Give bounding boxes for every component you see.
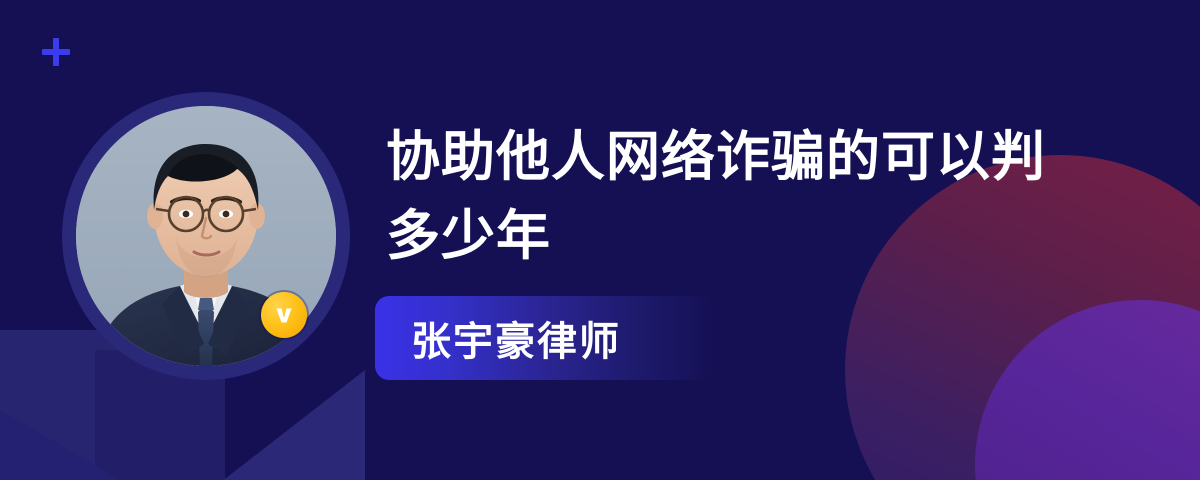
wedge-decoration-corner bbox=[0, 410, 120, 480]
verified-badge bbox=[261, 292, 307, 338]
purple-arc-decoration bbox=[975, 300, 1200, 480]
plus-icon bbox=[42, 38, 70, 66]
lawyer-name-label: 张宇豪律师 bbox=[411, 309, 621, 367]
lawyer-name-badge[interactable]: 张宇豪律师 bbox=[375, 296, 715, 380]
avatar bbox=[62, 92, 350, 380]
page-title: 协助他人网络诈骗的可以判多少年 bbox=[386, 118, 1076, 276]
lawyer-question-banner: 协助他人网络诈骗的可以判多少年 张宇豪律师 bbox=[0, 0, 1200, 480]
wedge-decoration-right bbox=[185, 370, 365, 480]
